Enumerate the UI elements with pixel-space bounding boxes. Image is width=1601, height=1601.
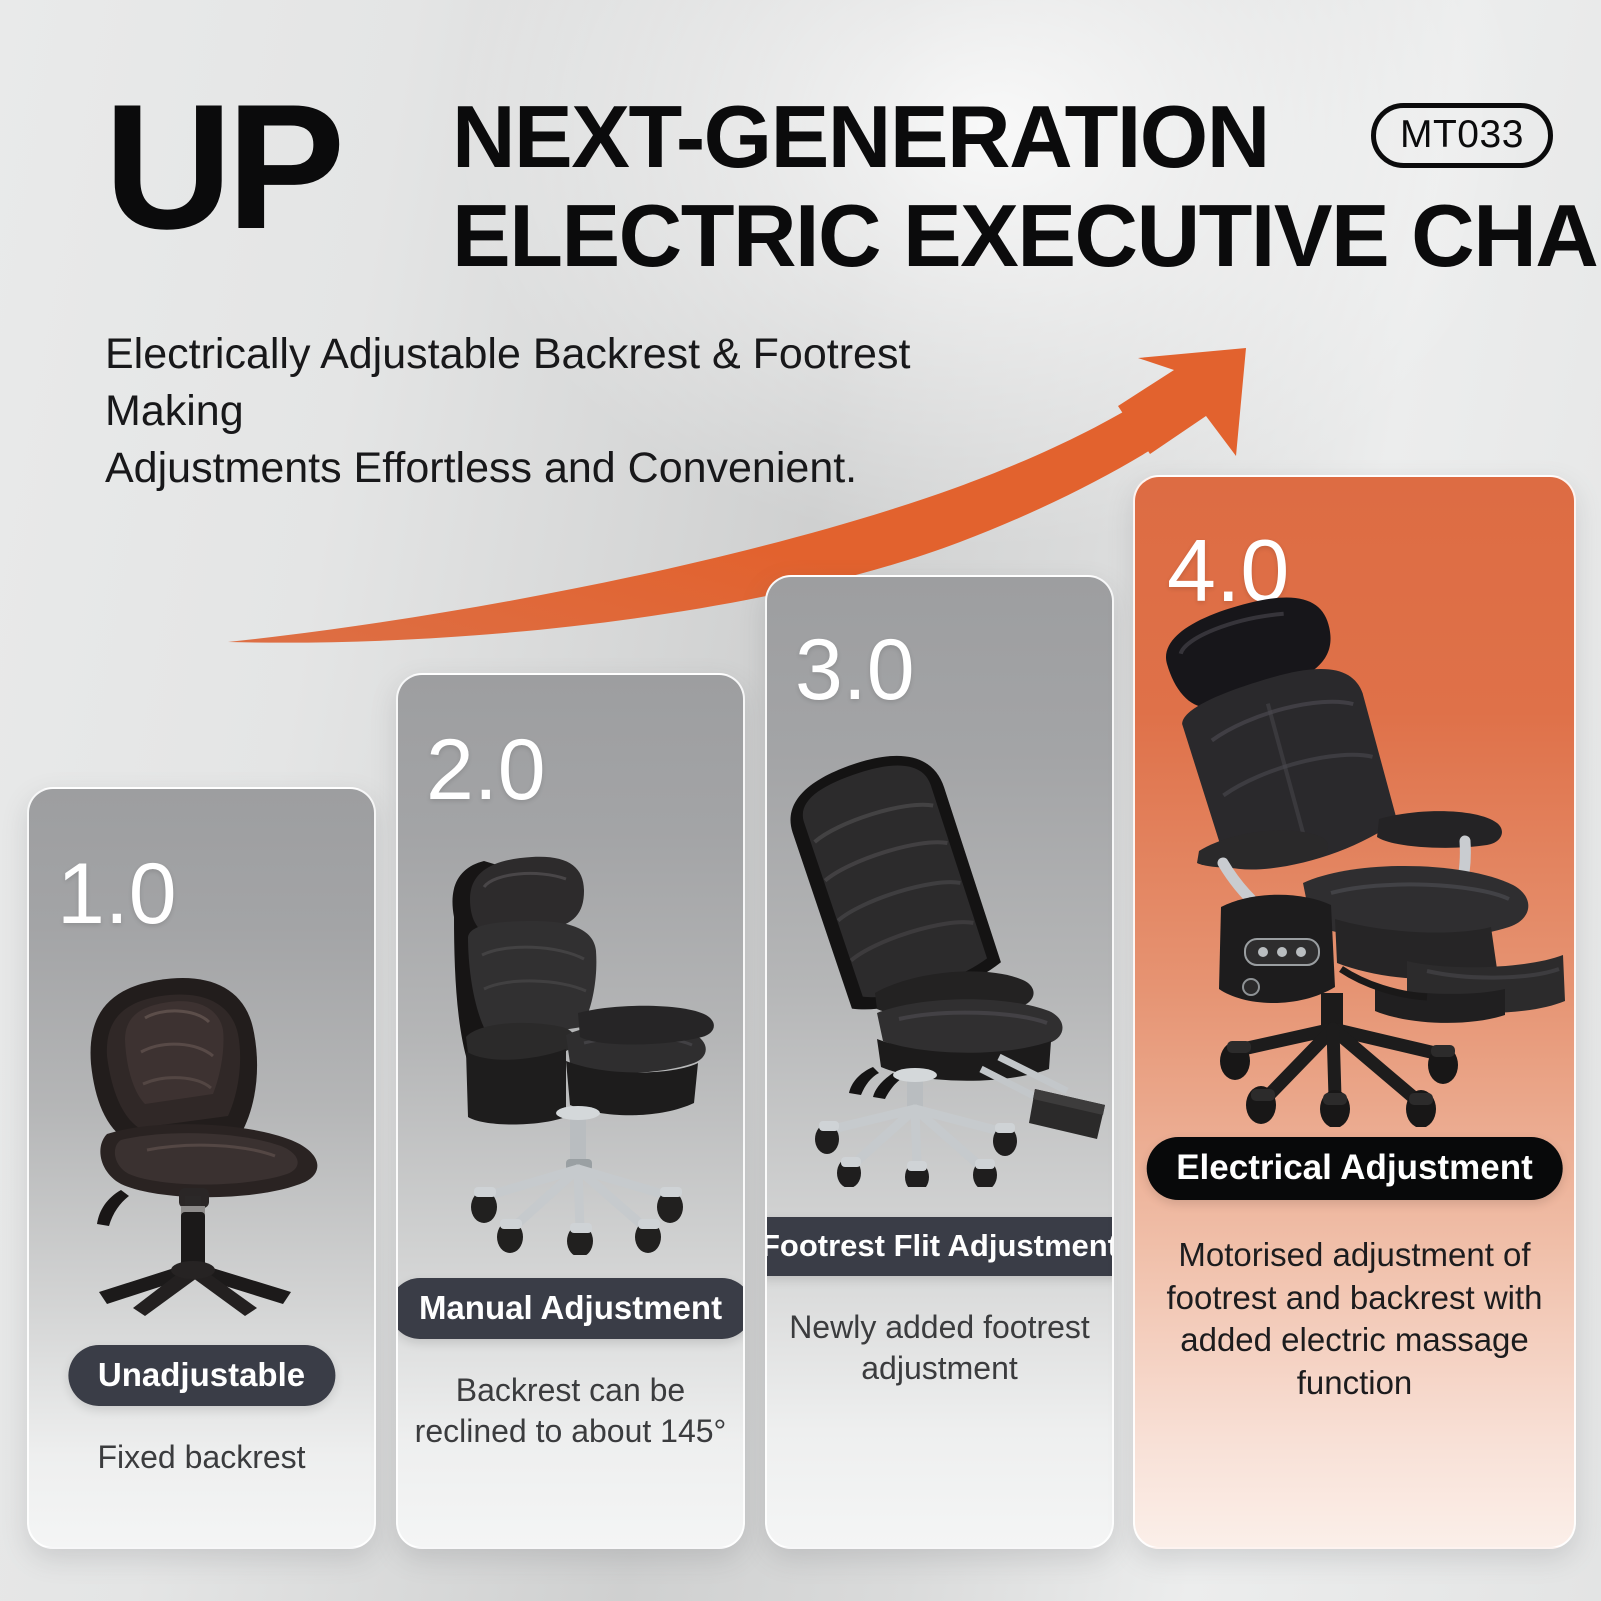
feature-pill: Unadjustable bbox=[68, 1345, 335, 1406]
version-card-3[interactable]: 3.0 bbox=[765, 575, 1114, 1549]
version-label: 1.0 bbox=[57, 851, 177, 937]
feature-pill: Footrest Flit Adjustment bbox=[765, 1217, 1114, 1276]
electric-recliner-chair-image bbox=[1135, 597, 1574, 1127]
page-title-line-1: NEXT-GENERATION bbox=[452, 88, 1512, 187]
arrow-head bbox=[1118, 348, 1246, 456]
subtitle: Electrically Adjustable Backrest & Footr… bbox=[105, 326, 1035, 498]
feature-description: Motorised adjustment of footrest and bac… bbox=[1155, 1234, 1555, 1404]
armless-tufted-chair-image bbox=[29, 944, 374, 1324]
infographic-root: UP NEXT-GENERATION ELECTRIC EXECUTIVE CH… bbox=[0, 0, 1601, 1601]
feature-pill: Manual Adjustment bbox=[396, 1278, 745, 1339]
subtitle-line-1: Electrically Adjustable Backrest & Footr… bbox=[105, 326, 1035, 440]
page-title-line-2: ELECTRIC EXECUTIVE CHAIR bbox=[452, 187, 1512, 286]
version-card-4[interactable]: 4.0 bbox=[1133, 475, 1576, 1549]
feature-pill: Electrical Adjustment bbox=[1146, 1137, 1563, 1200]
header: UP NEXT-GENERATION ELECTRIC EXECUTIVE CH… bbox=[0, 0, 1601, 300]
version-card-2[interactable]: 2.0 bbox=[396, 673, 745, 1549]
model-number-badge: MT033 bbox=[1371, 103, 1553, 168]
version-label: 3.0 bbox=[795, 627, 915, 713]
feature-description: Backrest can be reclined to about 145° bbox=[406, 1370, 736, 1453]
subtitle-line-2: Adjustments Effortless and Convenient. bbox=[105, 440, 1035, 497]
manual-executive-chair-image bbox=[398, 825, 743, 1255]
reclining-chair-with-footrest-image bbox=[767, 737, 1112, 1187]
page-title: NEXT-GENERATION ELECTRIC EXECUTIVE CHAIR bbox=[452, 88, 1512, 285]
feature-description: Fixed backrest bbox=[37, 1437, 367, 1478]
feature-description: Newly added footrest adjustment bbox=[775, 1307, 1105, 1390]
version-card-1[interactable]: 1.0 bbox=[27, 787, 376, 1549]
version-label: 2.0 bbox=[426, 727, 546, 813]
brand-logo: UP bbox=[104, 78, 339, 256]
